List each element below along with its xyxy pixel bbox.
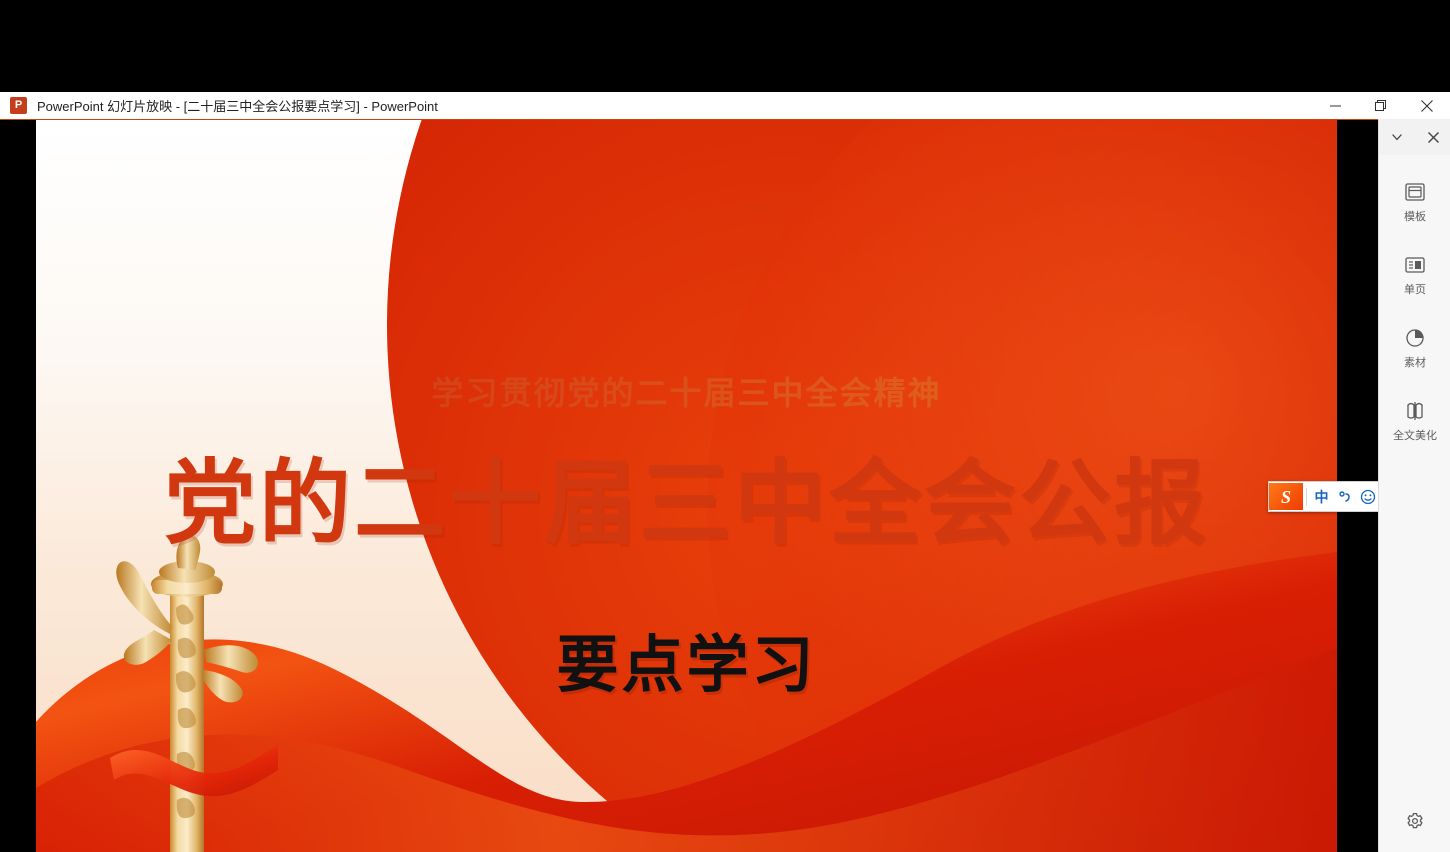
- sidebar-items: 模板 单页: [1379, 155, 1450, 852]
- ime-language-mode-button[interactable]: 中: [1310, 483, 1333, 510]
- sogou-logo-letter: S: [1281, 488, 1291, 506]
- close-icon: [1427, 131, 1440, 144]
- single-page-icon: [1400, 252, 1430, 278]
- sidebar-item-beautify[interactable]: 全文美化: [1379, 398, 1450, 443]
- minimize-icon: [1330, 100, 1341, 111]
- close-icon: [1421, 100, 1433, 112]
- ime-emoji-button[interactable]: [1356, 483, 1379, 510]
- slide-kicker-text: 学习贯彻党的二十届三中全会精神: [36, 368, 1337, 414]
- slide-main-title: 党的二十届三中全会公报: [36, 456, 1337, 553]
- ime-language-mode-label: 中: [1315, 487, 1329, 507]
- powerpoint-icon-letter: P: [15, 100, 22, 111]
- sidebar-item-single-page-label: 单页: [1404, 281, 1426, 297]
- template-icon: [1400, 179, 1430, 205]
- beautify-icon: [1400, 398, 1430, 424]
- sidebar-item-template-label: 模板: [1404, 208, 1426, 224]
- restore-icon: [1375, 100, 1387, 112]
- sidebar-close-button[interactable]: [1420, 124, 1446, 150]
- sidebar-collapse-button[interactable]: [1384, 124, 1410, 150]
- restore-button[interactable]: [1358, 92, 1404, 119]
- sidebar-item-template[interactable]: 模板: [1379, 179, 1450, 224]
- close-button[interactable]: [1404, 92, 1450, 119]
- sidebar-item-material-label: 素材: [1404, 354, 1426, 370]
- title-bar: P PowerPoint 幻灯片放映 - [二十届三中全会公报要点学习] - P…: [0, 92, 1450, 120]
- minimize-button[interactable]: [1312, 92, 1358, 119]
- gear-icon: [1406, 812, 1424, 830]
- desktop-backdrop: [0, 0, 1450, 92]
- chevron-down-icon: [1390, 130, 1404, 144]
- sogou-logo-icon[interactable]: S: [1269, 483, 1303, 510]
- slideshow-stage[interactable]: 学习贯彻党的二十届三中全会精神 党的二十届三中全会公报 要点学习: [0, 120, 1378, 852]
- sidebar-item-beautify-label: 全文美化: [1393, 427, 1437, 443]
- smiley-icon: [1360, 489, 1376, 505]
- window-title: PowerPoint 幻灯片放映 - [二十届三中全会公报要点学习] - Pow…: [37, 96, 438, 115]
- right-tool-sidebar: 模板 单页: [1378, 119, 1450, 852]
- sidebar-item-material[interactable]: 素材: [1379, 325, 1450, 370]
- sidebar-settings-button[interactable]: [1379, 812, 1450, 830]
- slide-subtitle: 要点学习: [36, 614, 1337, 704]
- powerpoint-icon: P: [10, 97, 27, 114]
- material-pie-icon: [1400, 325, 1430, 351]
- ime-divider: [1306, 488, 1307, 506]
- window-controls: [1312, 92, 1450, 119]
- punctuation-icon: [1337, 489, 1353, 505]
- sidebar-header: [1379, 119, 1450, 155]
- sidebar-item-single-page[interactable]: 单页: [1379, 252, 1450, 297]
- slide-canvas[interactable]: 学习贯彻党的二十届三中全会精神 党的二十届三中全会公报 要点学习: [36, 120, 1337, 852]
- ime-punctuation-toggle-button[interactable]: [1333, 483, 1356, 510]
- screen: P PowerPoint 幻灯片放映 - [二十届三中全会公报要点学习] - P…: [0, 0, 1450, 852]
